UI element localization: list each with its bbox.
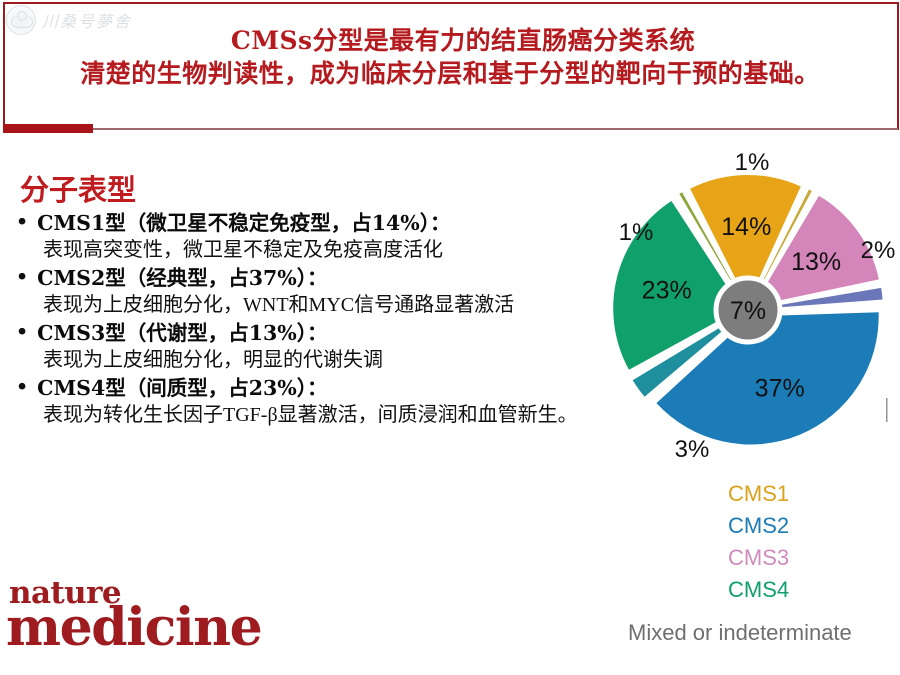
title-line-2: 清楚的生物判读性，成为临床分层和基于分型的靶向干预的基础。 xyxy=(8,57,892,90)
list-item-head: • CMS3型（代谢型，占13%）： xyxy=(10,320,610,347)
list-item-head: • CMS2型（经典型，占37%）： xyxy=(10,265,610,292)
list-item-desc: 表现高突变性，微卫星不稳定及免疫高度活化 xyxy=(10,237,610,264)
legend-item-cms2: CMS2 xyxy=(728,510,898,542)
legend-item-mixed: Mixed or indeterminate xyxy=(628,620,852,646)
list-item: • CMS4型（间质型，占23%）： 表现为转化生长因子TGF-β显著激活，间质… xyxy=(10,375,610,429)
list-item-desc: 表现为转化生长因子TGF-β显著激活，间质浸润和血管新生。 xyxy=(10,402,610,429)
pie-chart: 14%13%37%23%7%1%2%3%1% xyxy=(600,140,900,470)
pie-chart-svg: 14%13%37%23%7%1%2%3%1% xyxy=(600,140,900,470)
slice-label-cms2-cms4-sliver: 3% xyxy=(675,436,710,463)
bullet-icon: • xyxy=(16,265,28,290)
slide-canvas: 川桑号夢舍 CMSs分型是最有力的结直肠癌分类系统 清楚的生物判读性，成为临床分… xyxy=(0,0,900,675)
slice-label-cms3-cms2-sliver: 2% xyxy=(861,237,896,264)
title-line-1: CMSs分型是最有力的结直肠癌分类系统 xyxy=(8,24,892,57)
list-item-title: CMS3型（代谢型，占13%）： xyxy=(37,320,327,347)
list-item-title: CMS2型（经典型，占37%）： xyxy=(37,265,327,292)
content-body: 分子表型 • CMS1型（微卫星不稳定免疫型，占14%）： 表现高突变性，微卫星… xyxy=(10,172,610,430)
logo-line-medicine: medicine xyxy=(6,602,261,654)
list-item-title: CMS4型（间质型，占23%）： xyxy=(37,375,327,402)
nature-medicine-logo: nature medicine xyxy=(6,578,261,654)
slice-label-cms2: 37% xyxy=(755,375,805,403)
section-heading: 分子表型 xyxy=(20,172,610,208)
slice-label-cms3: 13% xyxy=(791,248,841,276)
slice-label-cms4-cms1-sliver: 1% xyxy=(619,219,654,246)
bullet-icon: • xyxy=(16,210,28,235)
list-item-title: CMS1型（微卫星不稳定免疫型，占14%）： xyxy=(37,210,450,237)
bullet-icon: • xyxy=(16,375,28,400)
cms-type-list: • CMS1型（微卫星不稳定免疫型，占14%）： 表现高突变性，微卫星不稳定及免… xyxy=(10,210,610,429)
slice-label-cms4: 23% xyxy=(642,277,692,305)
legend-item-cms3: CMS3 xyxy=(728,542,898,574)
header-divider-line xyxy=(93,128,898,130)
frame-left-border xyxy=(3,2,5,130)
scan-artifact xyxy=(884,398,889,422)
legend-item-cms1: CMS1 xyxy=(728,478,898,510)
slice-label-cms1-cms3-sliver: 1% xyxy=(735,149,770,176)
slice-label-mixed: 7% xyxy=(730,297,766,325)
bullet-icon: • xyxy=(16,320,28,345)
list-item: • CMS2型（经典型，占37%）： 表现为上皮细胞分化，WNT和MYC信号通路… xyxy=(10,265,610,319)
list-item-desc: 表现为上皮细胞分化，WNT和MYC信号通路显著激活 xyxy=(10,292,610,319)
chart-legend: CMS1 CMS2 CMS3 CMS4 xyxy=(728,478,898,606)
header-accent-bar xyxy=(3,124,93,133)
slide-title: CMSs分型是最有力的结直肠癌分类系统 清楚的生物判读性，成为临床分层和基于分型… xyxy=(8,24,892,90)
list-item-head: • CMS4型（间质型，占23%）： xyxy=(10,375,610,402)
list-item-head: • CMS1型（微卫星不稳定免疫型，占14%）： xyxy=(10,210,610,237)
legend-item-cms4: CMS4 xyxy=(728,574,898,606)
frame-right-border xyxy=(897,2,899,130)
list-item: • CMS1型（微卫星不稳定免疫型，占14%）： 表现高突变性，微卫星不稳定及免… xyxy=(10,210,610,264)
list-item-desc: 表现为上皮细胞分化，明显的代谢失调 xyxy=(10,347,610,374)
slice-label-cms1: 14% xyxy=(721,213,771,241)
list-item: • CMS3型（代谢型，占13%）： 表现为上皮细胞分化，明显的代谢失调 xyxy=(10,320,610,374)
